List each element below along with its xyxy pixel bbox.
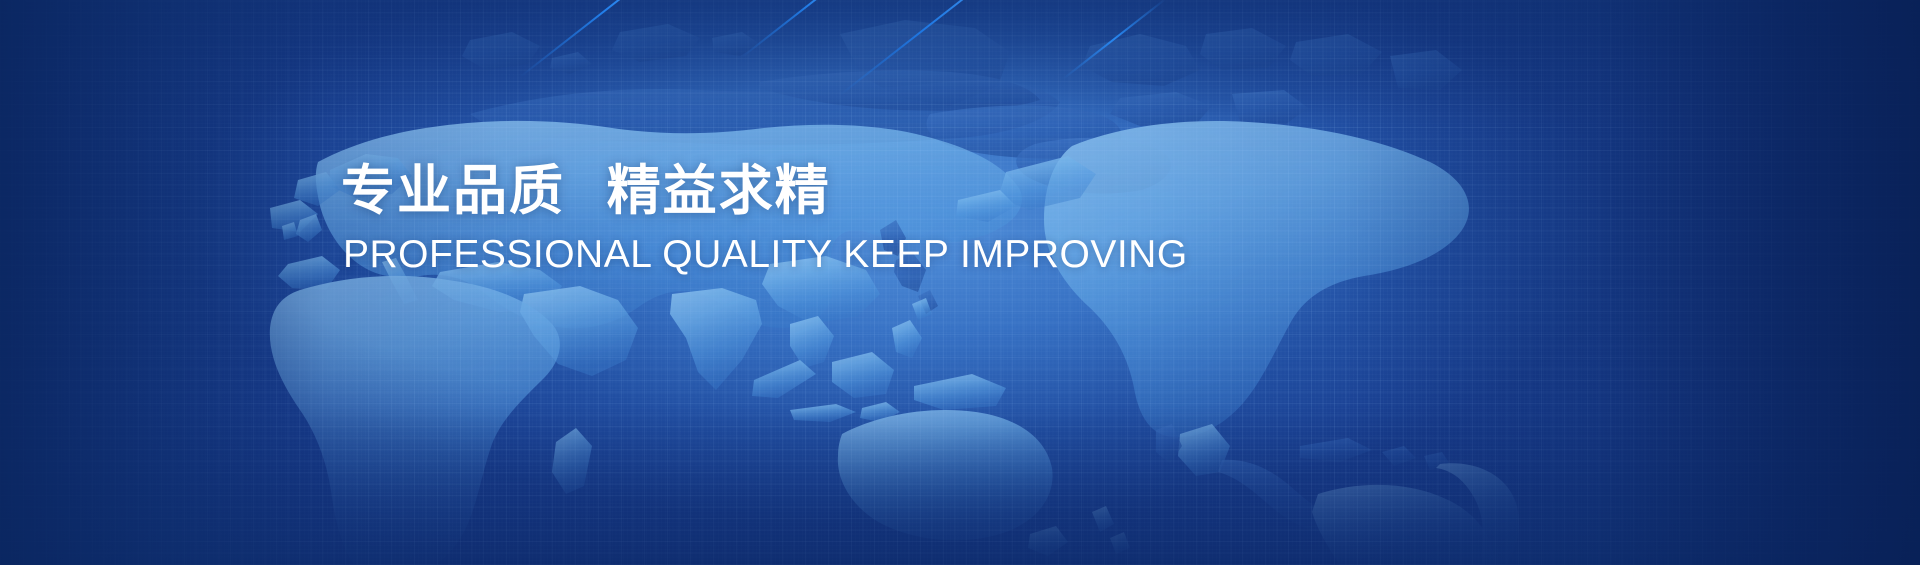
background-edge-vignette [0,0,1920,565]
banner-headline-english: PROFESSIONAL QUALITY KEEP IMPROVING [343,232,1441,278]
hero-banner: 专业品质 精益求精 PROFESSIONAL QUALITY KEEP IMPR… [0,0,1920,565]
banner-headline-chinese: 专业品质 精益求精 [341,160,1441,222]
banner-copy: 专业品质 精益求精 PROFESSIONAL QUALITY KEEP IMPR… [341,160,1441,278]
